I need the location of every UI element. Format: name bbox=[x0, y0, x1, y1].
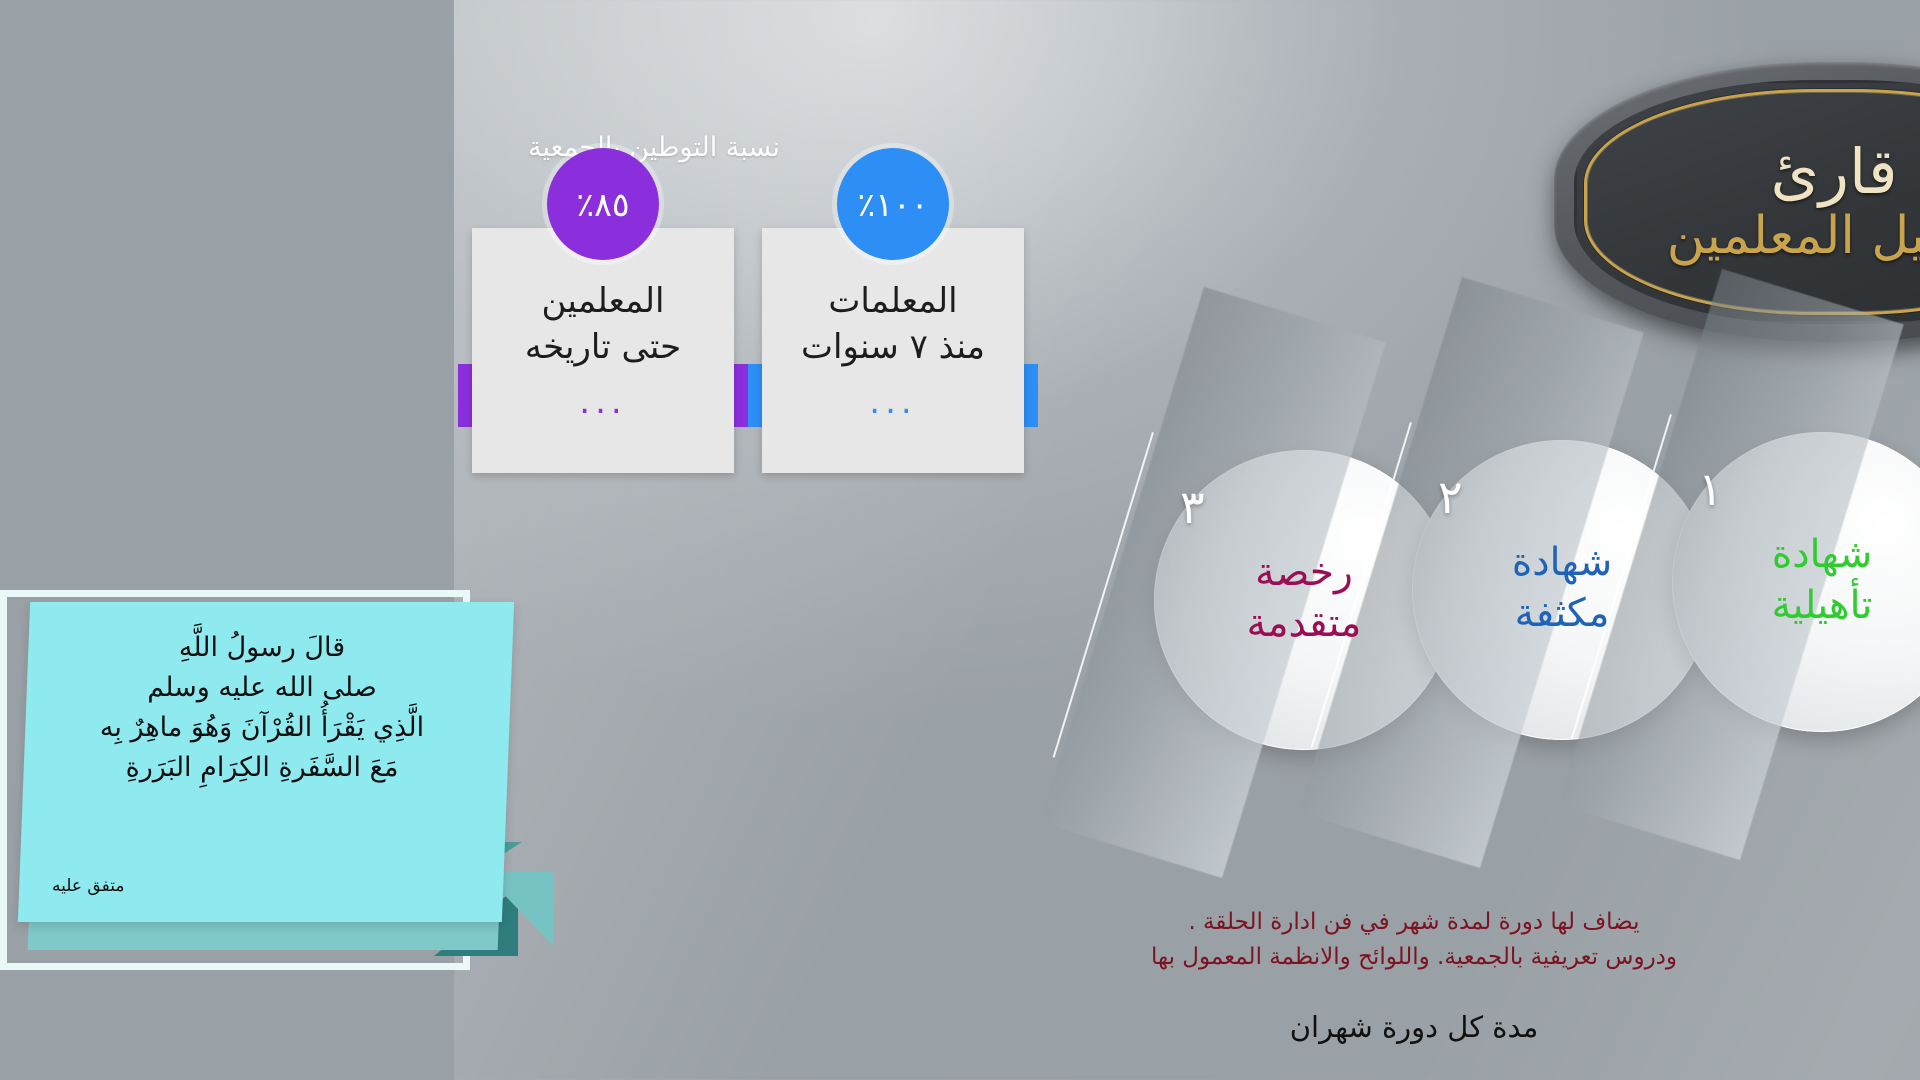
stat-label-line-1: المعلمين bbox=[76, 279, 223, 325]
stat-label-line-1: المعلمات bbox=[362, 279, 515, 325]
stat-ellipsis: ... bbox=[125, 382, 172, 422]
stage-label-line-1: رخصة bbox=[700, 548, 1000, 599]
footnote-black: مدة كل دورة شهران bbox=[640, 1010, 1280, 1044]
stage-circle-1[interactable]: ١ شهادة تأهيلية bbox=[1218, 432, 1518, 732]
stat-badge-percent: ١٠٠٪ bbox=[383, 148, 495, 260]
stage-number: ٣ bbox=[726, 484, 751, 530]
stage-number: ١ bbox=[1244, 466, 1269, 512]
footnote-red-line-2: ودروس تعريفية بالجمعية. واللوائح والانظم… bbox=[560, 940, 1360, 975]
stat-ellipsis: ... bbox=[415, 382, 462, 422]
stage-label-line-1: شهادة bbox=[1218, 530, 1518, 581]
stage-label-line-2: تأهيلية bbox=[1218, 581, 1518, 632]
stage-label-line-2: متقدمة bbox=[700, 599, 1000, 650]
stat-label-line-2: منذ ٧ سنوات bbox=[335, 325, 543, 371]
footnote-red-line-1: يضاف لها دورة لمدة شهر في فن ادارة الحلق… bbox=[560, 905, 1360, 940]
footnote-red: يضاف لها دورة لمدة شهر في فن ادارة الحلق… bbox=[560, 905, 1360, 974]
stage-label: شهادة تأهيلية bbox=[1218, 530, 1518, 631]
stat-label-line-2: حتى تاريخه bbox=[59, 325, 239, 371]
stage-label: رخصة متقدمة bbox=[700, 548, 1000, 649]
stage-label: شهادة مكثفة bbox=[958, 538, 1258, 639]
stat-card-body: المعلمات منذ ٧ سنوات ... bbox=[308, 228, 570, 473]
stage-number: ٢ bbox=[984, 474, 1009, 520]
stage-label-line-2: مكثفة bbox=[958, 589, 1258, 640]
stage-label-line-1: شهادة bbox=[958, 538, 1258, 589]
stat-badge-percent: ٨٥٪ bbox=[93, 148, 205, 260]
stat-card-body: المعلمين حتى تاريخه ... bbox=[18, 228, 280, 473]
